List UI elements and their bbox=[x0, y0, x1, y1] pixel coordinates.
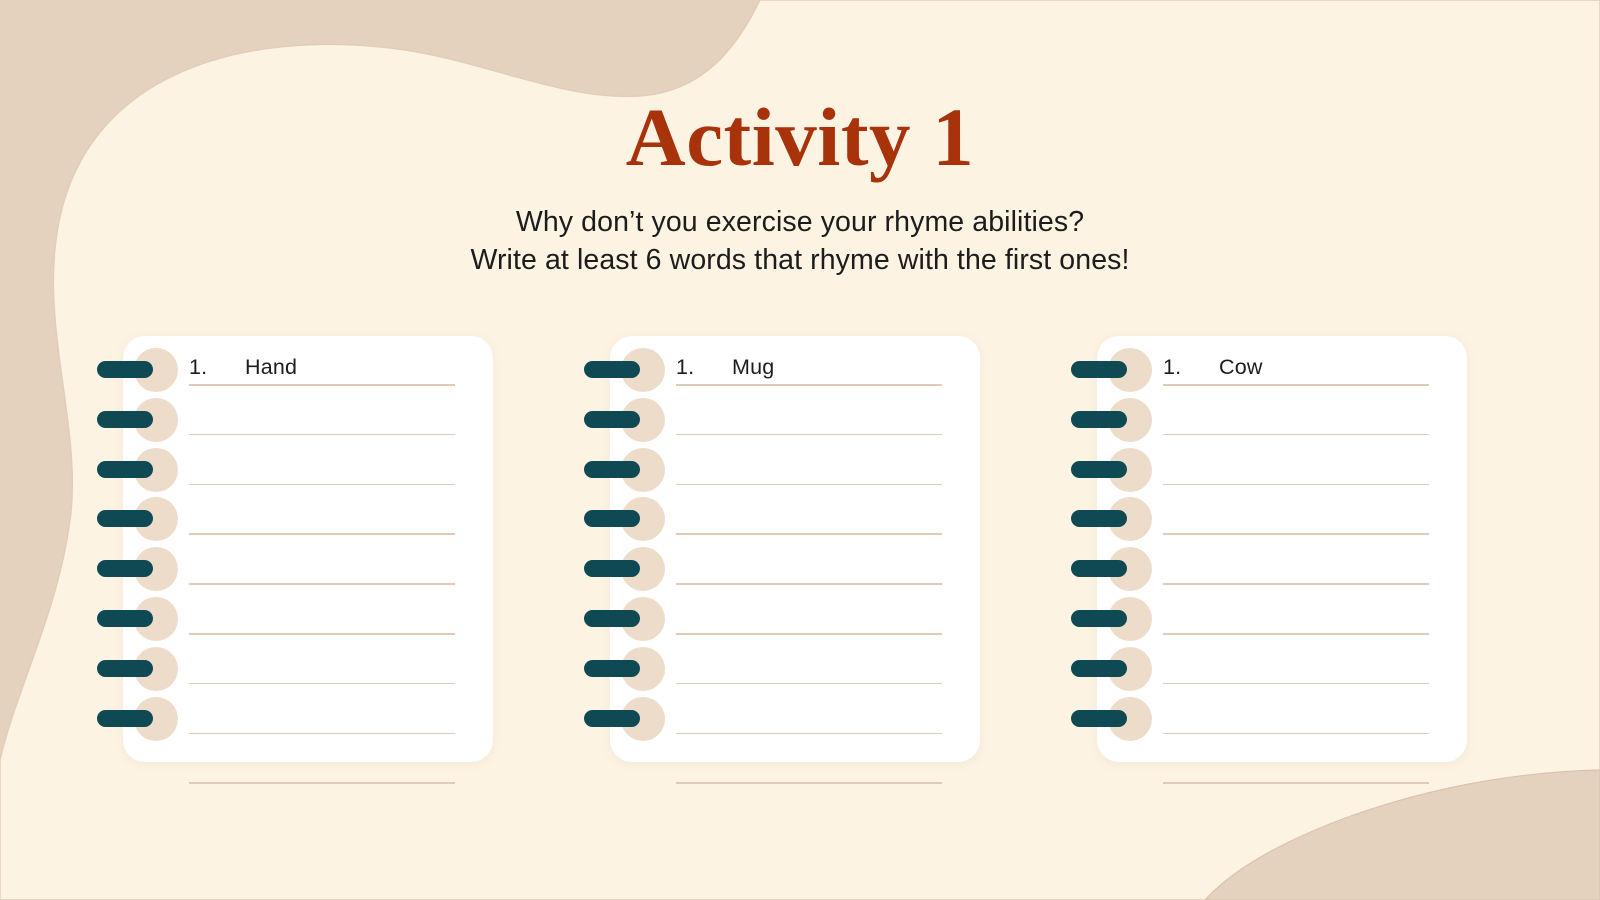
write-line[interactable] bbox=[676, 782, 942, 784]
write-line[interactable] bbox=[676, 683, 942, 685]
list-item: 1.Hand bbox=[189, 350, 455, 384]
write-line[interactable] bbox=[1163, 683, 1429, 685]
notepad-mug[interactable]: 1.Mug bbox=[583, 336, 980, 762]
notepad-hand[interactable]: 1.Hand bbox=[96, 336, 493, 762]
spiral-bar-icon bbox=[1071, 411, 1127, 428]
spiral-binding-icon bbox=[96, 348, 196, 392]
write-line[interactable] bbox=[1163, 533, 1429, 535]
spiral-bar-icon bbox=[1071, 610, 1127, 627]
notepad-cow[interactable]: 1.Cow bbox=[1070, 336, 1467, 762]
subtitle-line-1: Why don’t you exercise your rhyme abilit… bbox=[0, 203, 1600, 241]
spiral-bar-icon bbox=[1071, 361, 1127, 378]
page-subtitle: Why don’t you exercise your rhyme abilit… bbox=[0, 203, 1600, 279]
spiral-bar-icon bbox=[97, 610, 153, 627]
spiral-binding-icon bbox=[583, 348, 683, 392]
spiral-bar-icon bbox=[584, 361, 640, 378]
spiral-binding-icon bbox=[1070, 448, 1170, 492]
write-line[interactable] bbox=[1163, 583, 1429, 585]
spiral-bar-icon bbox=[1071, 560, 1127, 577]
write-line[interactable] bbox=[676, 434, 942, 436]
spiral-bar-icon bbox=[97, 560, 153, 577]
write-line[interactable] bbox=[189, 733, 455, 735]
spiral-bar-icon bbox=[97, 361, 153, 378]
spiral-bar-icon bbox=[97, 710, 153, 727]
spiral-bar-icon bbox=[584, 660, 640, 677]
spiral-binding-icon bbox=[583, 697, 683, 741]
spiral-binding-icon bbox=[96, 497, 196, 541]
write-line[interactable] bbox=[676, 733, 942, 735]
subtitle-line-2: Write at least 6 words that rhyme with t… bbox=[0, 241, 1600, 279]
spiral-bar-icon bbox=[97, 510, 153, 527]
ruled-lines bbox=[676, 336, 942, 762]
list-item-word: Mug bbox=[732, 355, 942, 380]
write-line[interactable] bbox=[1163, 733, 1429, 735]
spiral-binding-icon bbox=[583, 398, 683, 442]
write-line[interactable] bbox=[189, 782, 455, 784]
spiral-bar-icon bbox=[584, 710, 640, 727]
list-item-word: Cow bbox=[1219, 355, 1429, 380]
write-line[interactable] bbox=[189, 633, 455, 635]
spiral-bar-icon bbox=[1071, 461, 1127, 478]
spiral-bar-icon bbox=[584, 510, 640, 527]
slide-canvas: Activity 1 Why don’t you exercise your r… bbox=[0, 0, 1600, 900]
spiral-binding-icon bbox=[1070, 697, 1170, 741]
spiral-bar-icon bbox=[584, 560, 640, 577]
list-item-number: 1. bbox=[189, 355, 245, 380]
list-item-number: 1. bbox=[1163, 355, 1219, 380]
spiral-binding-icon bbox=[96, 597, 196, 641]
spiral-bar-icon bbox=[97, 660, 153, 677]
spiral-binding-icon bbox=[96, 647, 196, 691]
spiral-bar-icon bbox=[97, 411, 153, 428]
list-item-number: 1. bbox=[676, 355, 732, 380]
slide-header: Activity 1 Why don’t you exercise your r… bbox=[0, 0, 1600, 279]
write-line[interactable] bbox=[189, 384, 455, 386]
spiral-binding-icon bbox=[583, 497, 683, 541]
write-line[interactable] bbox=[676, 583, 942, 585]
spiral-binding-icon bbox=[583, 597, 683, 641]
write-line[interactable] bbox=[189, 484, 455, 486]
spiral-binding-icon bbox=[1070, 547, 1170, 591]
spiral-binding-icon bbox=[96, 398, 196, 442]
spiral-bar-icon bbox=[97, 461, 153, 478]
spiral-binding-icon bbox=[96, 697, 196, 741]
spiral-binding-icon bbox=[1070, 497, 1170, 541]
write-line[interactable] bbox=[1163, 434, 1429, 436]
write-line[interactable] bbox=[189, 683, 455, 685]
spiral-binding-icon bbox=[96, 448, 196, 492]
spiral-bar-icon bbox=[584, 411, 640, 428]
write-line[interactable] bbox=[1163, 484, 1429, 486]
list-item-word: Hand bbox=[245, 355, 455, 380]
write-line[interactable] bbox=[676, 533, 942, 535]
spiral-binding-icon bbox=[1070, 597, 1170, 641]
spiral-bar-icon bbox=[584, 610, 640, 627]
list-item: 1.Cow bbox=[1163, 350, 1429, 384]
write-line[interactable] bbox=[1163, 782, 1429, 784]
spiral-binding-icon bbox=[1070, 647, 1170, 691]
write-line[interactable] bbox=[676, 633, 942, 635]
spiral-binding-icon bbox=[1070, 348, 1170, 392]
write-line[interactable] bbox=[189, 434, 455, 436]
write-line[interactable] bbox=[676, 384, 942, 386]
spiral-binding-icon bbox=[1070, 398, 1170, 442]
write-line[interactable] bbox=[1163, 633, 1429, 635]
write-line[interactable] bbox=[1163, 384, 1429, 386]
page-title: Activity 1 bbox=[0, 96, 1600, 179]
spiral-binding-icon bbox=[583, 647, 683, 691]
ruled-lines bbox=[189, 336, 455, 762]
spiral-bar-icon bbox=[1071, 710, 1127, 727]
spiral-bar-icon bbox=[584, 461, 640, 478]
spiral-bar-icon bbox=[1071, 660, 1127, 677]
write-line[interactable] bbox=[676, 484, 942, 486]
ruled-lines bbox=[1163, 336, 1429, 762]
spiral-bar-icon bbox=[1071, 510, 1127, 527]
spiral-binding-icon bbox=[583, 547, 683, 591]
write-line[interactable] bbox=[189, 583, 455, 585]
spiral-binding-icon bbox=[96, 547, 196, 591]
spiral-binding-icon bbox=[583, 448, 683, 492]
list-item: 1.Mug bbox=[676, 350, 942, 384]
write-line[interactable] bbox=[189, 533, 455, 535]
